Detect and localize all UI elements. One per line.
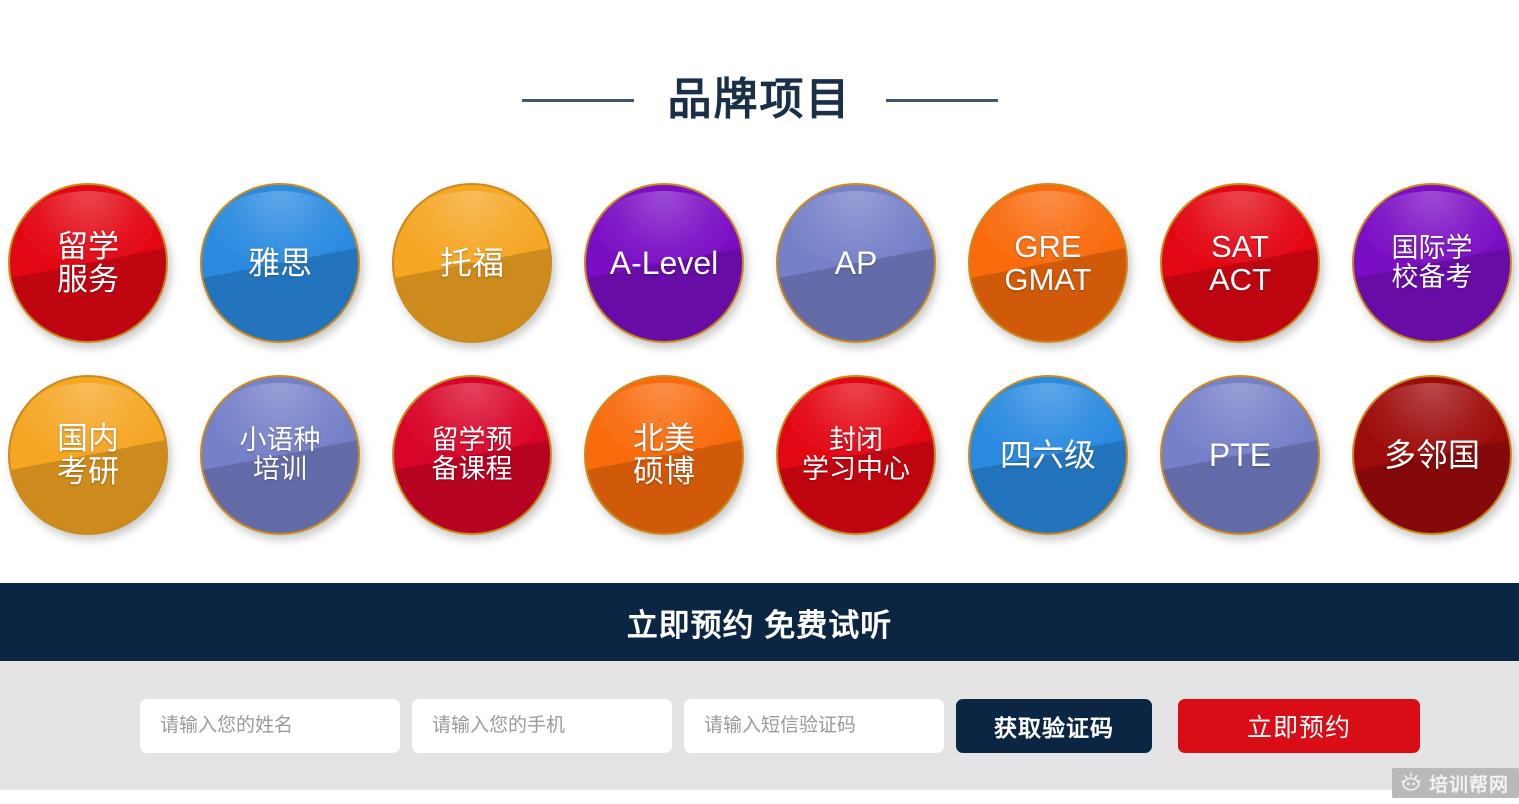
site-watermark: 培训帮网 [1392, 768, 1519, 798]
program-bubble-a-level[interactable]: A-Level [584, 183, 744, 343]
program-bubble-label: PTE [1209, 438, 1271, 473]
program-bubble-liuxue-yubei-kecheng[interactable]: 留学预 备课程 [392, 375, 552, 535]
program-bubble-label: 多邻国 [1384, 438, 1480, 473]
page-title: 品牌项目 [634, 78, 886, 122]
heading-rule-right [886, 99, 998, 102]
program-bubble-label: 国内 考研 [57, 422, 119, 489]
program-bubble-duolinguo[interactable]: 多邻国 [1352, 375, 1512, 535]
program-bubble-pte[interactable]: PTE [1160, 375, 1320, 535]
program-bubble-sat-act[interactable]: SAT ACT [1160, 183, 1320, 343]
section-heading: 品牌项目 [0, 62, 1519, 138]
program-bubble-tuofu[interactable]: 托福 [392, 183, 552, 343]
cta-banner-text: 立即预约 免费试听 [627, 600, 893, 645]
heading-rule-left [522, 99, 634, 102]
program-bubble-label: GRE GMAT [1004, 230, 1091, 297]
program-bubble-label: 留学 服务 [57, 230, 119, 297]
program-bubble-label: 北美 硕博 [633, 422, 695, 489]
program-bubble-guoji-xuexiao-beikao[interactable]: 国际学 校备考 [1352, 183, 1512, 343]
watermark-text: 培训帮网 [1429, 770, 1509, 797]
program-bubble-label: 国际学 校备考 [1392, 234, 1473, 292]
program-bubble-liuxue-fuwu[interactable]: 留学 服务 [8, 183, 168, 343]
program-bubble-label: 小语种 培训 [240, 426, 321, 484]
sun-eye-icon [1400, 772, 1422, 794]
submit-booking-button[interactable]: 立即预约 [1178, 699, 1420, 753]
program-bubble-label: 雅思 [248, 246, 312, 281]
program-bubble-label: 托福 [440, 246, 504, 281]
program-bubble-ap[interactable]: AP [776, 183, 936, 343]
program-bubble-label: A-Level [610, 246, 719, 281]
program-bubble-label: 封闭 学习中心 [802, 426, 910, 484]
program-row-2: 国内 考研小语种 培训留学预 备课程北美 硕博封闭 学习中心四六级PTE多邻国 [8, 375, 1519, 535]
program-bubble-gre-gmat[interactable]: GRE GMAT [968, 183, 1128, 343]
program-bubble-label: 四六级 [1000, 438, 1096, 473]
sms-code-input[interactable] [684, 699, 944, 753]
program-bubble-silliuji[interactable]: 四六级 [968, 375, 1128, 535]
program-bubble-label: SAT ACT [1209, 230, 1271, 297]
cta-banner: 立即预约 免费试听 [0, 583, 1519, 661]
program-bubble-guonei-kaoyan[interactable]: 国内 考研 [8, 375, 168, 535]
program-bubble-fengbi-xuexi-zhongxin[interactable]: 封闭 学习中心 [776, 375, 936, 535]
phone-input[interactable] [412, 699, 672, 753]
get-code-button[interactable]: 获取验证码 [956, 699, 1152, 753]
program-bubble-label: AP [835, 246, 878, 281]
program-bubble-beimei-shuobo[interactable]: 北美 硕博 [584, 375, 744, 535]
program-bubble-xiaoyuzhong-peixun[interactable]: 小语种 培训 [200, 375, 360, 535]
name-input[interactable] [140, 699, 400, 753]
program-row-1: 留学 服务雅思托福A-LevelAPGRE GMATSAT ACT国际学 校备考 [8, 183, 1519, 343]
program-bubble-label: 留学预 备课程 [432, 426, 513, 484]
program-bubble-yasi[interactable]: 雅思 [200, 183, 360, 343]
program-grid: 留学 服务雅思托福A-LevelAPGRE GMATSAT ACT国际学 校备考… [8, 183, 1519, 535]
booking-form: 获取验证码 立即预约 [0, 661, 1519, 790]
